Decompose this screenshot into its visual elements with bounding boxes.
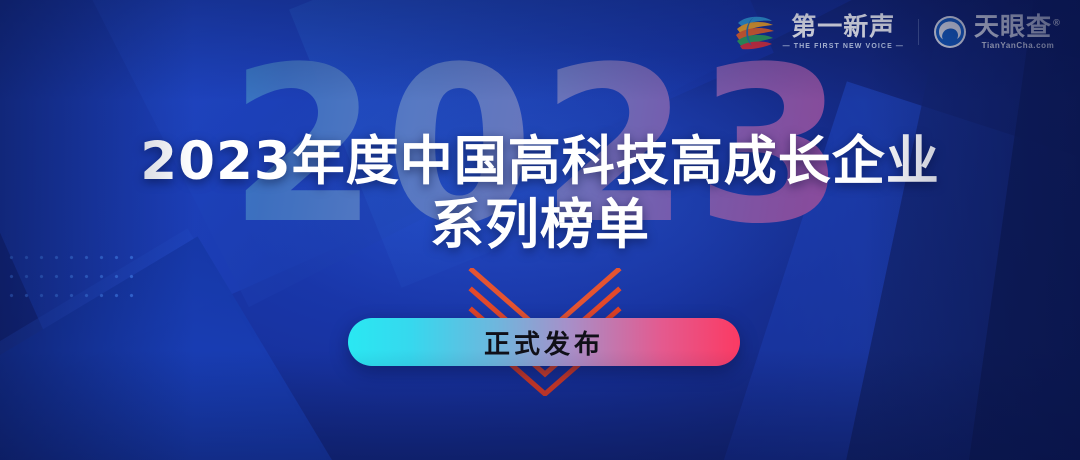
dot-grid-decoration <box>4 248 142 310</box>
logo-tianyancha-texts: 天眼查® TianYanCha.com <box>974 14 1062 50</box>
registered-trademark-icon: ® <box>1052 19 1062 29</box>
logo-diyixinsheng-cn: 第一新声 <box>791 14 895 39</box>
ribbon-swirl-logo-icon <box>734 14 776 50</box>
title-block: 2023年度中国高科技高成长企业 系列榜单 <box>0 132 1080 255</box>
logo-diyixinsheng[interactable]: 第一新声 — THE FIRST NEW VOICE — <box>734 14 904 50</box>
logo-divider <box>918 19 919 45</box>
promo-banner: 2023 2023年度中国高科技高成长企业 系列榜单 正式发布 <box>0 0 1080 460</box>
release-cta-label: 正式发布 <box>484 324 604 361</box>
title-line-1: 2023年度中国高科技高成长企业 <box>0 132 1080 192</box>
eye-aperture-logo-icon <box>933 15 967 49</box>
logo-tianyancha[interactable]: 天眼查® TianYanCha.com <box>933 14 1062 50</box>
logo-bar: 第一新声 — THE FIRST NEW VOICE — 天眼查® TianYa… <box>734 14 1062 50</box>
logo-tianyancha-cn: 天眼查® <box>974 14 1062 39</box>
logo-diyixinsheng-texts: 第一新声 — THE FIRST NEW VOICE — <box>783 14 904 50</box>
logo-diyixinsheng-en: — THE FIRST NEW VOICE — <box>783 43 904 50</box>
title-line-2: 系列榜单 <box>0 194 1080 255</box>
logo-tianyancha-en: TianYanCha.com <box>982 42 1055 50</box>
logo-tianyancha-cn-text: 天眼查 <box>974 12 1052 41</box>
release-cta-button[interactable]: 正式发布 <box>348 318 740 366</box>
